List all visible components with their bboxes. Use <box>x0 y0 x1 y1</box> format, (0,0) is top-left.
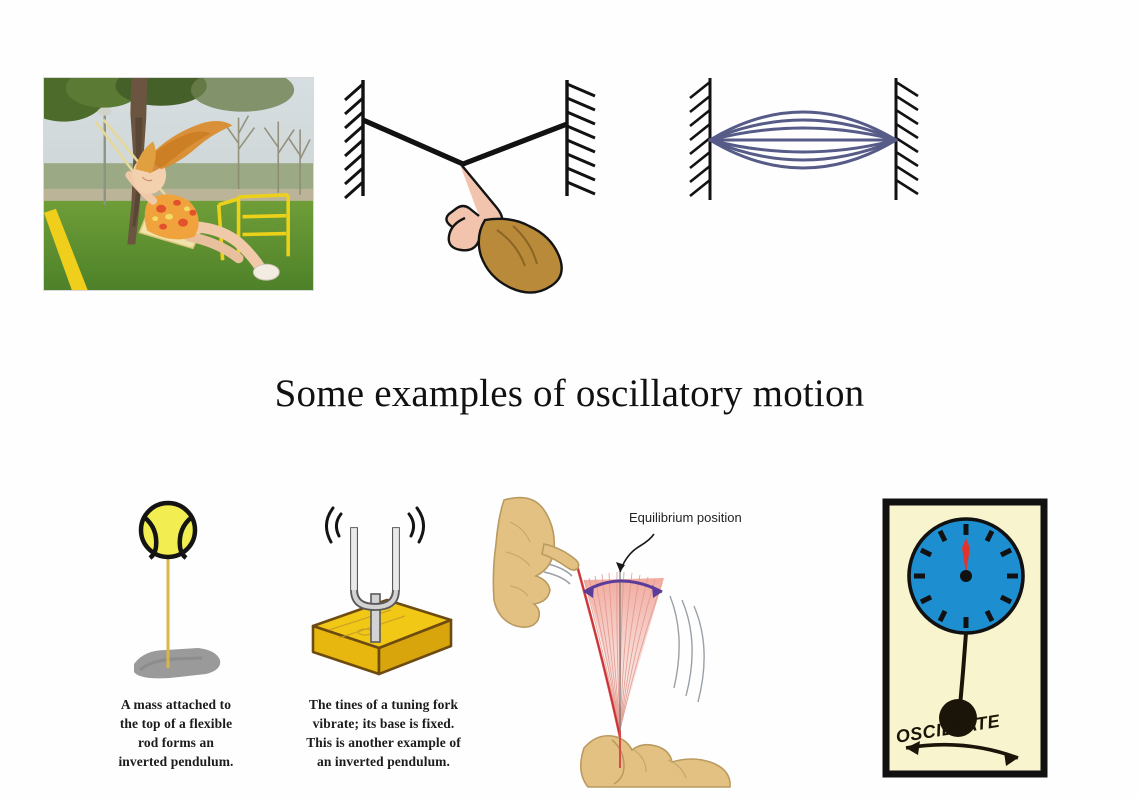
flexible-rod-oscillation-diagram <box>492 492 742 787</box>
caption-line: an inverted pendulum. <box>281 752 486 771</box>
caption-line: A mass attached to <box>78 695 274 714</box>
tuning-fork-caption: The tines of a tuning fork vibrate; its … <box>281 695 486 771</box>
caption-line: The tines of a tuning fork <box>281 695 486 714</box>
right-wall-icon <box>896 78 918 200</box>
vibrating-string-diagram <box>678 78 928 203</box>
swing-photo-artwork <box>44 78 313 290</box>
inverted-pendulum-artwork <box>110 498 245 688</box>
left-wall-icon <box>345 80 363 198</box>
right-wall-icon <box>567 80 595 196</box>
tuning-fork-artwork <box>295 498 465 688</box>
tuning-fork-diagram <box>295 498 465 688</box>
hand-plucking-string-diagram <box>345 78 635 318</box>
caption-line: vibrate; its base is fixed. <box>281 714 486 733</box>
tennis-ball-inverted-pendulum-diagram <box>110 498 245 688</box>
slide-canvas: Some examples of oscillatory motion <box>0 0 1139 798</box>
vibrating-string-artwork <box>678 78 928 203</box>
inverted-pendulum-caption: A mass attached to the top of a flexible… <box>78 695 274 771</box>
girl-on-swing-photograph <box>43 77 314 291</box>
page-title: Some examples of oscillatory motion <box>0 370 1139 418</box>
equilibrium-position-label: Equilibrium position <box>629 510 742 525</box>
caption-line: the top of a flexible <box>78 714 274 733</box>
caption-line: inverted pendulum. <box>78 752 274 771</box>
left-wall-icon <box>690 78 710 200</box>
plucked-string-artwork <box>345 78 635 318</box>
caption-line: rod forms an <box>78 733 274 752</box>
flexible-rod-artwork <box>492 492 742 787</box>
caption-line: This is another example of <box>281 733 486 752</box>
